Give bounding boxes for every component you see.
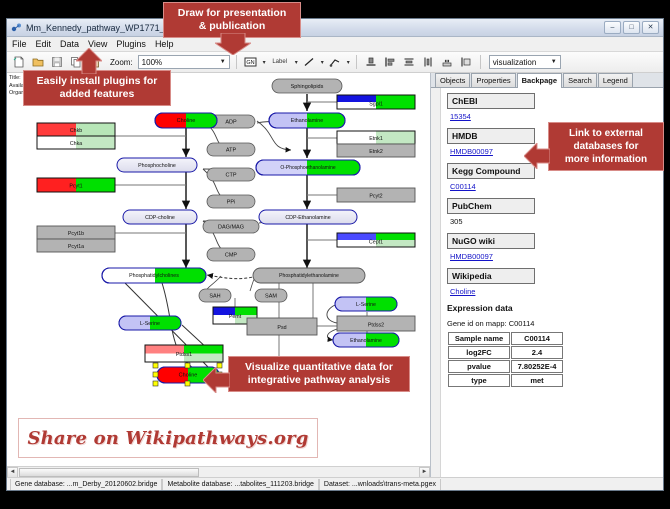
distribute-horizontal-icon[interactable] bbox=[420, 54, 436, 70]
callout-visualize-line1: Visualize quantitative data for bbox=[236, 361, 402, 374]
datanode-icon[interactable]: GN bbox=[243, 54, 259, 70]
cell-value: C00114 bbox=[511, 332, 563, 345]
open-folder-icon[interactable] bbox=[30, 54, 46, 70]
scroll-right-icon[interactable]: ► bbox=[419, 467, 430, 478]
svg-text:Sphingolipids: Sphingolipids bbox=[291, 84, 324, 90]
callout-link-line1: Link to external bbox=[556, 127, 656, 140]
status-gene-database: Gene database: ...m_Derby_20120602.bridg… bbox=[10, 479, 162, 490]
db-value-chebi[interactable]: 15354 bbox=[450, 112, 657, 121]
menu-item-edit[interactable]: Edit bbox=[36, 39, 52, 49]
svg-text:CMP: CMP bbox=[225, 253, 238, 259]
cell-value: 7.80252E-4 bbox=[511, 360, 563, 373]
db-link-kegg[interactable]: C00114 bbox=[450, 182, 476, 191]
pathvisio-icon bbox=[11, 22, 22, 33]
distribute-vertical-icon[interactable] bbox=[401, 54, 417, 70]
db-value-wikipedia[interactable]: Choline bbox=[450, 287, 657, 296]
svg-text:Pcyt1b: Pcyt1b bbox=[68, 231, 84, 237]
zoom-label: Zoom: bbox=[110, 58, 133, 67]
svg-text:SAM: SAM bbox=[265, 294, 277, 300]
scroll-left-icon[interactable]: ◄ bbox=[7, 467, 18, 478]
svg-text:PPi: PPi bbox=[227, 200, 236, 206]
callout-link-line2: databases for bbox=[556, 140, 656, 153]
table-row: log2FC 2.4 bbox=[448, 346, 563, 359]
db-header-pubchem: PubChem bbox=[447, 198, 535, 214]
pathway-canvas[interactable]: Title: Availa Organ bbox=[7, 73, 430, 466]
db-link-chebi[interactable]: 15354 bbox=[450, 112, 471, 121]
table-row: type met bbox=[448, 374, 563, 387]
menu-bar: File Edit Data View Plugins Help bbox=[7, 37, 663, 52]
callout-plugins-line1: Easily install plugins for bbox=[31, 75, 163, 88]
svg-text:Pcyt2: Pcyt2 bbox=[369, 194, 382, 200]
line-dropdown-icon[interactable]: ▾ bbox=[321, 59, 324, 66]
tab-objects[interactable]: Objects bbox=[435, 73, 470, 87]
svg-text:Psd: Psd bbox=[277, 325, 286, 331]
svg-text:CDP-Ethanolamine: CDP-Ethanolamine bbox=[285, 215, 330, 221]
toolbar-separator-3 bbox=[480, 55, 481, 69]
callout-draw-line2: & publication bbox=[171, 20, 293, 33]
interaction-arrow-icon[interactable] bbox=[327, 54, 343, 70]
side-panel-tabs: Objects Properties Backpage Search Legen… bbox=[431, 73, 663, 88]
toolbar-separator bbox=[236, 55, 237, 69]
new-document-icon[interactable] bbox=[11, 54, 27, 70]
callout-draw-line1: Draw for presentation bbox=[171, 7, 293, 20]
pathway-drawing[interactable]: ADP ATP CTP PPi DAG/MAG CMP SAH SAM Sphi… bbox=[7, 73, 430, 466]
status-dataset: Dataset: ...wnloads\trans-meta.pgex bbox=[319, 479, 441, 490]
callout-share-text: Share on Wikipathways.org bbox=[27, 428, 308, 449]
svg-text:Choline: Choline bbox=[177, 118, 196, 124]
svg-text:Ptdss2: Ptdss2 bbox=[368, 323, 384, 329]
label-dropdown-icon[interactable]: ▾ bbox=[295, 59, 298, 66]
cell-key: log2FC bbox=[448, 346, 510, 359]
callout-visualize-arrow bbox=[203, 367, 230, 393]
svg-text:CDP-choline: CDP-choline bbox=[145, 215, 175, 221]
save-disk-icon[interactable] bbox=[49, 54, 65, 70]
svg-text:Pcyt1: Pcyt1 bbox=[69, 184, 82, 190]
menu-item-plugins[interactable]: Plugins bbox=[116, 39, 146, 49]
svg-text:Sgpl1: Sgpl1 bbox=[369, 102, 383, 108]
callout-link-external: Link to external databases for more info… bbox=[548, 122, 664, 171]
svg-text:Chka: Chka bbox=[70, 141, 82, 147]
callout-visualize: Visualize quantitative data for integrat… bbox=[228, 356, 410, 392]
tab-legend[interactable]: Legend bbox=[598, 73, 633, 87]
callout-share: Share on Wikipathways.org bbox=[18, 418, 318, 458]
svg-text:SAH: SAH bbox=[209, 294, 220, 300]
svg-text:Etnk2: Etnk2 bbox=[369, 149, 383, 155]
scroll-thumb[interactable] bbox=[19, 468, 199, 477]
same-height-icon[interactable] bbox=[458, 54, 474, 70]
expression-data-table: Sample name C00114 log2FC 2.4 pvalue 7.8… bbox=[447, 331, 564, 388]
datanode-dropdown-icon[interactable]: ▾ bbox=[263, 59, 266, 66]
table-row: Sample name C00114 bbox=[448, 332, 563, 345]
maximize-button[interactable]: □ bbox=[623, 21, 640, 34]
title-bar: Mm_Kennedy_pathway_WP1771_45176.gpml – □… bbox=[7, 19, 663, 37]
callout-plugins-arrow bbox=[76, 48, 102, 74]
db-header-kegg: Kegg Compound bbox=[447, 163, 535, 179]
db-link-wikipedia[interactable]: Choline bbox=[450, 287, 475, 296]
status-bar: Gene database: ...m_Derby_20120602.bridg… bbox=[7, 477, 663, 490]
svg-text:Etnk1: Etnk1 bbox=[369, 136, 383, 142]
svg-text:Phosphatidylethanolamine: Phosphatidylethanolamine bbox=[279, 273, 339, 279]
tab-search[interactable]: Search bbox=[563, 73, 597, 87]
chevron-down-icon[interactable]: ▼ bbox=[217, 56, 229, 68]
window-controls: – □ ✕ bbox=[604, 21, 659, 34]
table-row: pvalue 7.80252E-4 bbox=[448, 360, 563, 373]
callout-plugins: Easily install plugins for added feature… bbox=[23, 70, 171, 106]
svg-text:Ethanolamine: Ethanolamine bbox=[291, 118, 323, 124]
db-header-chebi: ChEBI bbox=[447, 93, 535, 109]
close-button[interactable]: ✕ bbox=[642, 21, 659, 34]
cell-key: pvalue bbox=[448, 360, 510, 373]
svg-text:Chkb: Chkb bbox=[70, 128, 82, 134]
svg-text:ATP: ATP bbox=[226, 148, 237, 154]
callout-link-line3: more information bbox=[556, 153, 656, 166]
visualization-value: visualization bbox=[493, 58, 537, 67]
pathway-editor-pane: Title: Availa Organ bbox=[7, 73, 431, 477]
status-metabolite-database: Metabolite database: ...tabolites_111203… bbox=[162, 479, 318, 490]
chevron-down-icon-viz[interactable]: ▼ bbox=[548, 56, 560, 68]
menu-item-help[interactable]: Help bbox=[155, 39, 174, 49]
interaction-dropdown-icon[interactable]: ▾ bbox=[347, 59, 350, 66]
svg-text:DAG/MAG: DAG/MAG bbox=[218, 225, 244, 231]
label-icon[interactable]: Label bbox=[269, 54, 291, 70]
svg-text:Ethanolamine: Ethanolamine bbox=[350, 338, 382, 344]
canvas-horizontal-scrollbar[interactable]: ◄ ► bbox=[7, 466, 430, 477]
db-value-nugo-wiki[interactable]: HMDB00097 bbox=[450, 252, 657, 261]
db-header-hmdb: HMDB bbox=[447, 128, 535, 144]
cell-value: 2.4 bbox=[511, 346, 563, 359]
visualization-combo[interactable]: visualization ▼ bbox=[489, 55, 561, 69]
svg-text:ADP: ADP bbox=[225, 120, 237, 126]
callout-link-arrow bbox=[524, 143, 550, 169]
svg-text:GN: GN bbox=[247, 60, 255, 66]
callout-plugins-line2: added features bbox=[31, 88, 163, 101]
db-value-kegg[interactable]: C00114 bbox=[450, 182, 657, 191]
backpage-vertical-scrollbar[interactable] bbox=[431, 88, 441, 477]
cell-key: Sample name bbox=[448, 332, 510, 345]
cell-value: met bbox=[511, 374, 563, 387]
svg-text:Pemt: Pemt bbox=[229, 314, 242, 320]
svg-text:CTP: CTP bbox=[226, 173, 237, 179]
gene-id-line: Gene id on mapp: C00114 bbox=[447, 319, 657, 328]
tab-properties[interactable]: Properties bbox=[471, 73, 515, 87]
db-link-hmdb[interactable]: HMDB00097 bbox=[450, 147, 493, 156]
svg-text:Phosphocholine: Phosphocholine bbox=[138, 163, 176, 169]
align-top-icon[interactable] bbox=[363, 54, 379, 70]
svg-text:L-Serine: L-Serine bbox=[356, 302, 376, 308]
svg-text:O-Phosphoethanolamine: O-Phosphoethanolamine bbox=[280, 165, 336, 171]
db-header-nugo-wiki: NuGO wiki bbox=[447, 233, 535, 249]
tab-backpage[interactable]: Backpage bbox=[517, 73, 562, 88]
callout-visualize-line2: integrative pathway analysis bbox=[236, 374, 402, 387]
menu-item-file[interactable]: File bbox=[12, 39, 27, 49]
minimize-button[interactable]: – bbox=[604, 21, 621, 34]
toolbar-separator-2 bbox=[356, 55, 357, 69]
callout-draw-arrow bbox=[215, 33, 251, 55]
svg-text:Choline: Choline bbox=[179, 373, 198, 379]
svg-text:Cept1: Cept1 bbox=[369, 240, 383, 246]
line-icon[interactable] bbox=[301, 54, 317, 70]
svg-text:L-Serine: L-Serine bbox=[140, 321, 160, 327]
svg-text:Pcyt1a: Pcyt1a bbox=[68, 244, 84, 250]
expression-data-title: Expression data bbox=[447, 303, 657, 313]
svg-text:Phosphatidylcholines: Phosphatidylcholines bbox=[129, 273, 179, 279]
db-header-wikipedia: Wikipedia bbox=[447, 268, 535, 284]
zoom-value: 100% bbox=[142, 58, 162, 67]
same-width-icon[interactable] bbox=[439, 54, 455, 70]
align-left-icon[interactable] bbox=[382, 54, 398, 70]
db-link-nugo-wiki[interactable]: HMDB00097 bbox=[450, 252, 493, 261]
db-value-pubchem: 305 bbox=[450, 217, 657, 226]
zoom-combo[interactable]: 100% ▼ bbox=[138, 55, 230, 69]
cell-key: type bbox=[448, 374, 510, 387]
svg-text:Ptdss1: Ptdss1 bbox=[176, 352, 192, 358]
